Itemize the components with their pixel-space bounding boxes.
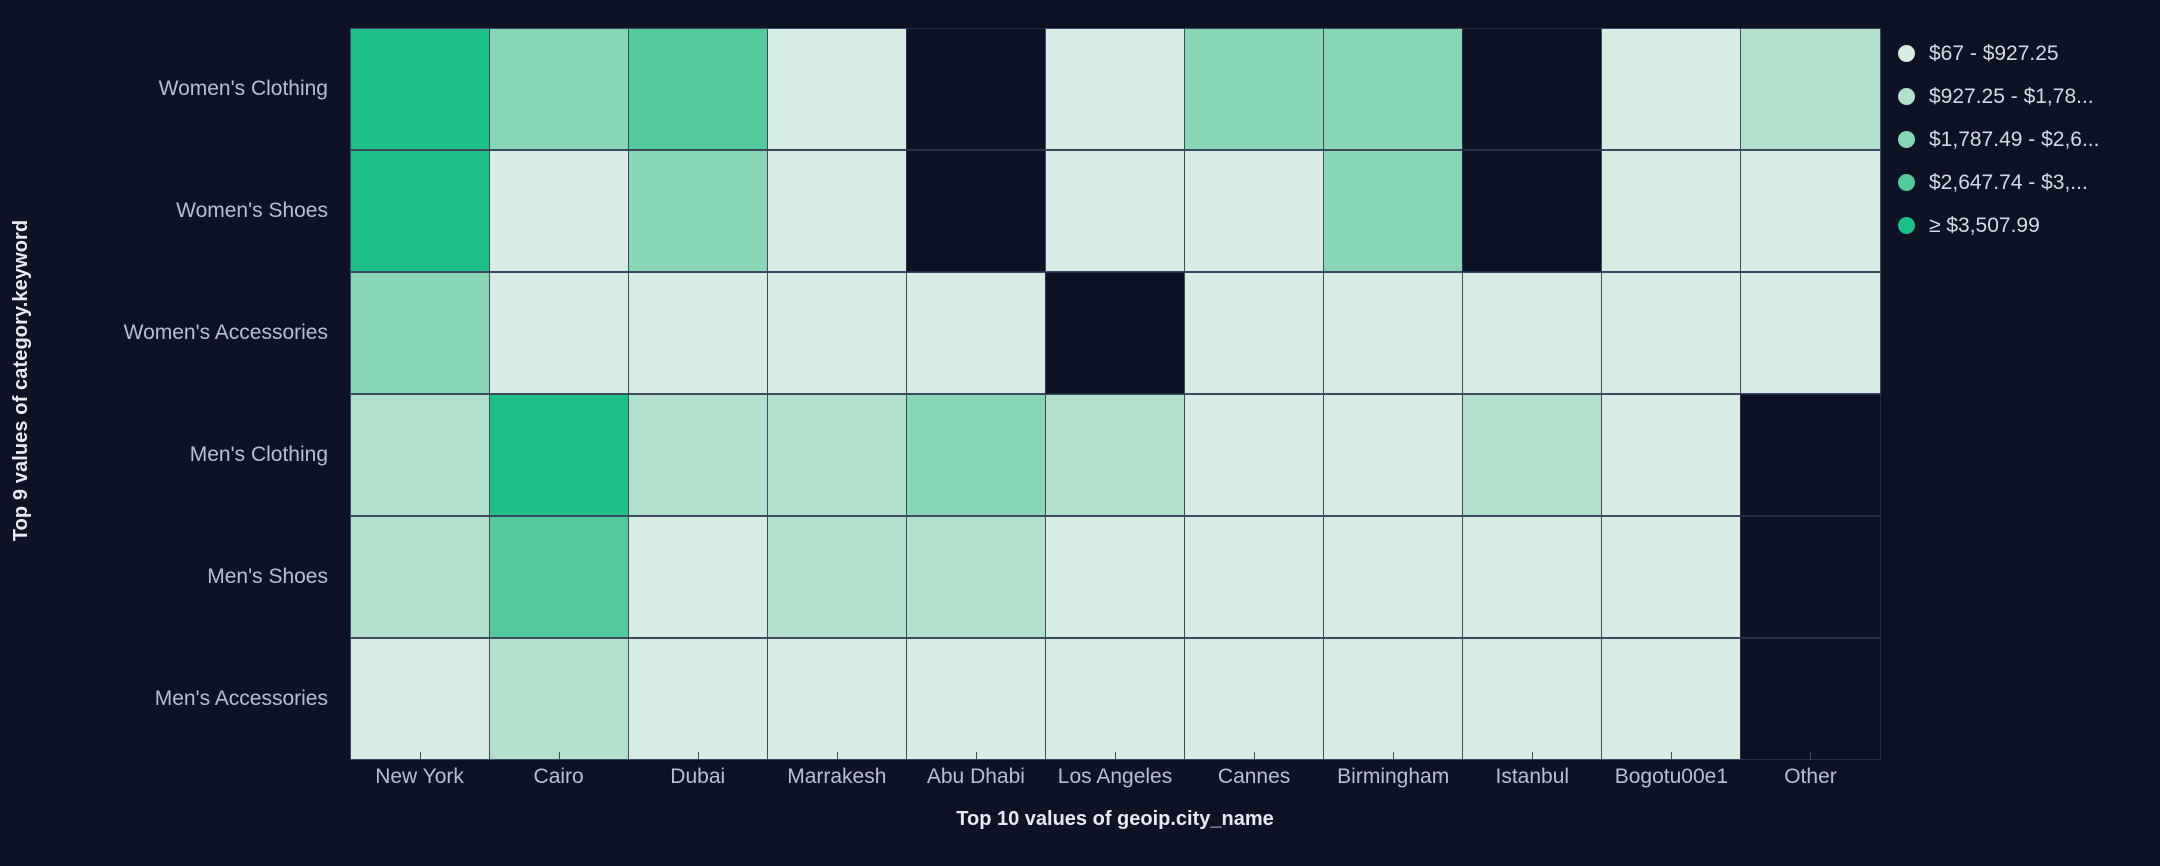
- heatmap-cell[interactable]: [906, 28, 1046, 150]
- heatmap-cell[interactable]: [350, 150, 490, 272]
- x-axis-tick-label: Los Angeles: [1045, 760, 1184, 794]
- heatmap-row: [350, 638, 1880, 760]
- heatmap-cell[interactable]: [628, 272, 768, 394]
- heatmap-cell[interactable]: [1740, 150, 1880, 272]
- heatmap-cell[interactable]: [1462, 272, 1602, 394]
- x-axis-title: Top 10 values of geoip.city_name: [350, 808, 1880, 831]
- heatmap-cell[interactable]: [1045, 638, 1185, 760]
- heatmap-cell[interactable]: [1740, 516, 1880, 638]
- heatmap-cell[interactable]: [1184, 516, 1324, 638]
- y-axis-title: Top 9 values of category.keyword: [0, 0, 44, 760]
- heatmap-cell[interactable]: [906, 394, 1046, 516]
- heatmap-cell[interactable]: [1184, 272, 1324, 394]
- heatmap-cell[interactable]: [767, 638, 907, 760]
- heatmap-cell[interactable]: [1740, 638, 1880, 760]
- heatmap-cell[interactable]: [1462, 394, 1602, 516]
- heatmap-cell[interactable]: [350, 272, 490, 394]
- x-axis-tick-labels: New YorkCairoDubaiMarrakeshAbu DhabiLos …: [350, 760, 1880, 794]
- heatmap-cell[interactable]: [489, 638, 629, 760]
- legend-swatch-icon: [1898, 174, 1915, 191]
- y-axis-tick-label: Men's Shoes: [207, 565, 328, 589]
- heatmap-row: [350, 394, 1880, 516]
- heatmap-plot-area: [350, 28, 1880, 760]
- heatmap-cell[interactable]: [628, 516, 768, 638]
- x-axis-tick-label: Birmingham: [1324, 760, 1463, 794]
- heatmap-cell[interactable]: [1462, 516, 1602, 638]
- heatmap-cell[interactable]: [1462, 28, 1602, 150]
- heatmap-cell[interactable]: [906, 516, 1046, 638]
- heatmap-cell[interactable]: [1601, 516, 1741, 638]
- heatmap-cell[interactable]: [1601, 150, 1741, 272]
- heatmap-cell[interactable]: [1045, 394, 1185, 516]
- x-axis-tick-label: Cairo: [489, 760, 628, 794]
- y-axis-tick-label: Men's Accessories: [155, 687, 328, 711]
- legend-item-label: $67 - $927.25: [1929, 42, 2059, 66]
- heatmap-cell[interactable]: [1045, 28, 1185, 150]
- heatmap-cell[interactable]: [489, 28, 629, 150]
- heatmap-cell[interactable]: [1462, 150, 1602, 272]
- x-axis-tick-label: Abu Dhabi: [906, 760, 1045, 794]
- y-axis-tick-label: Women's Accessories: [124, 321, 328, 345]
- legend-item[interactable]: ≥ $3,507.99: [1898, 204, 2148, 247]
- x-axis-tick-label: Bogotu00e1: [1602, 760, 1741, 794]
- x-axis-tick-label: Dubai: [628, 760, 767, 794]
- heatmap-cell[interactable]: [1184, 638, 1324, 760]
- heatmap-cell[interactable]: [350, 28, 490, 150]
- legend-item-label: ≥ $3,507.99: [1929, 214, 2040, 238]
- heatmap-cell[interactable]: [1740, 272, 1880, 394]
- heatmap-cell[interactable]: [1323, 394, 1463, 516]
- heatmap-cell[interactable]: [489, 272, 629, 394]
- legend-swatch-icon: [1898, 217, 1915, 234]
- y-axis-title-text: Top 9 values of category.keyword: [11, 219, 34, 540]
- x-axis-tick-label: Other: [1741, 760, 1880, 794]
- heatmap-cell[interactable]: [767, 272, 907, 394]
- legend-item[interactable]: $2,647.74 - $3,...: [1898, 161, 2148, 204]
- heatmap-cell[interactable]: [1601, 272, 1741, 394]
- heatmap-cell[interactable]: [1184, 394, 1324, 516]
- heatmap-cell[interactable]: [767, 28, 907, 150]
- heatmap-cell[interactable]: [1045, 272, 1185, 394]
- heatmap-cell[interactable]: [489, 516, 629, 638]
- heatmap-cell[interactable]: [1601, 28, 1741, 150]
- heatmap-cell[interactable]: [1323, 150, 1463, 272]
- heatmap-cell[interactable]: [628, 28, 768, 150]
- y-axis-tick-label: Women's Shoes: [176, 199, 328, 223]
- heatmap-cell[interactable]: [1323, 638, 1463, 760]
- legend-item-label: $927.25 - $1,78...: [1929, 85, 2094, 109]
- heatmap-cell[interactable]: [1184, 150, 1324, 272]
- heatmap-cell[interactable]: [628, 150, 768, 272]
- legend-item[interactable]: $1,787.49 - $2,6...: [1898, 118, 2148, 161]
- heatmap-row: [350, 150, 1880, 272]
- legend-item[interactable]: $67 - $927.25: [1898, 32, 2148, 75]
- heatmap-cell[interactable]: [350, 516, 490, 638]
- x-axis-tick-label: New York: [350, 760, 489, 794]
- heatmap-cell[interactable]: [1323, 272, 1463, 394]
- heatmap-row: [350, 28, 1880, 150]
- heatmap-cell[interactable]: [906, 272, 1046, 394]
- heatmap-cell[interactable]: [1462, 638, 1602, 760]
- heatmap-row: [350, 272, 1880, 394]
- heatmap-cell[interactable]: [1045, 150, 1185, 272]
- heatmap-cell[interactable]: [1601, 394, 1741, 516]
- heatmap-cell[interactable]: [628, 394, 768, 516]
- y-axis-tick-label: Men's Clothing: [190, 443, 328, 467]
- heatmap-cell[interactable]: [350, 638, 490, 760]
- legend-item-label: $2,647.74 - $3,...: [1929, 171, 2088, 195]
- heatmap-cell[interactable]: [906, 150, 1046, 272]
- heatmap-cell[interactable]: [767, 516, 907, 638]
- heatmap-cell[interactable]: [489, 150, 629, 272]
- legend: $67 - $927.25$927.25 - $1,78...$1,787.49…: [1898, 32, 2148, 247]
- heatmap-cell[interactable]: [1323, 28, 1463, 150]
- heatmap-row: [350, 516, 1880, 638]
- heatmap-cell[interactable]: [1740, 28, 1880, 150]
- heatmap-cell[interactable]: [1184, 28, 1324, 150]
- x-axis-tick-label: Cannes: [1185, 760, 1324, 794]
- heatmap-cell[interactable]: [767, 394, 907, 516]
- legend-swatch-icon: [1898, 88, 1915, 105]
- legend-swatch-icon: [1898, 131, 1915, 148]
- heatmap-visualization: Top 9 values of category.keyword Women's…: [0, 0, 2160, 866]
- legend-item[interactable]: $927.25 - $1,78...: [1898, 75, 2148, 118]
- heatmap-cell[interactable]: [1045, 516, 1185, 638]
- legend-item-label: $1,787.49 - $2,6...: [1929, 128, 2099, 152]
- heatmap-cell[interactable]: [489, 394, 629, 516]
- heatmap-cell[interactable]: [350, 394, 490, 516]
- y-axis-tick-labels: Women's ClothingWomen's ShoesWomen's Acc…: [44, 28, 340, 760]
- x-axis-tick-label: Istanbul: [1463, 760, 1602, 794]
- heatmap-cell[interactable]: [1740, 394, 1880, 516]
- heatmap-cell[interactable]: [906, 638, 1046, 760]
- heatmap-cell[interactable]: [767, 150, 907, 272]
- heatmap-cell[interactable]: [1601, 638, 1741, 760]
- heatmap-cell[interactable]: [1323, 516, 1463, 638]
- legend-swatch-icon: [1898, 45, 1915, 62]
- heatmap-cell[interactable]: [628, 638, 768, 760]
- y-axis-tick-label: Women's Clothing: [159, 77, 328, 101]
- x-axis-tick-label: Marrakesh: [767, 760, 906, 794]
